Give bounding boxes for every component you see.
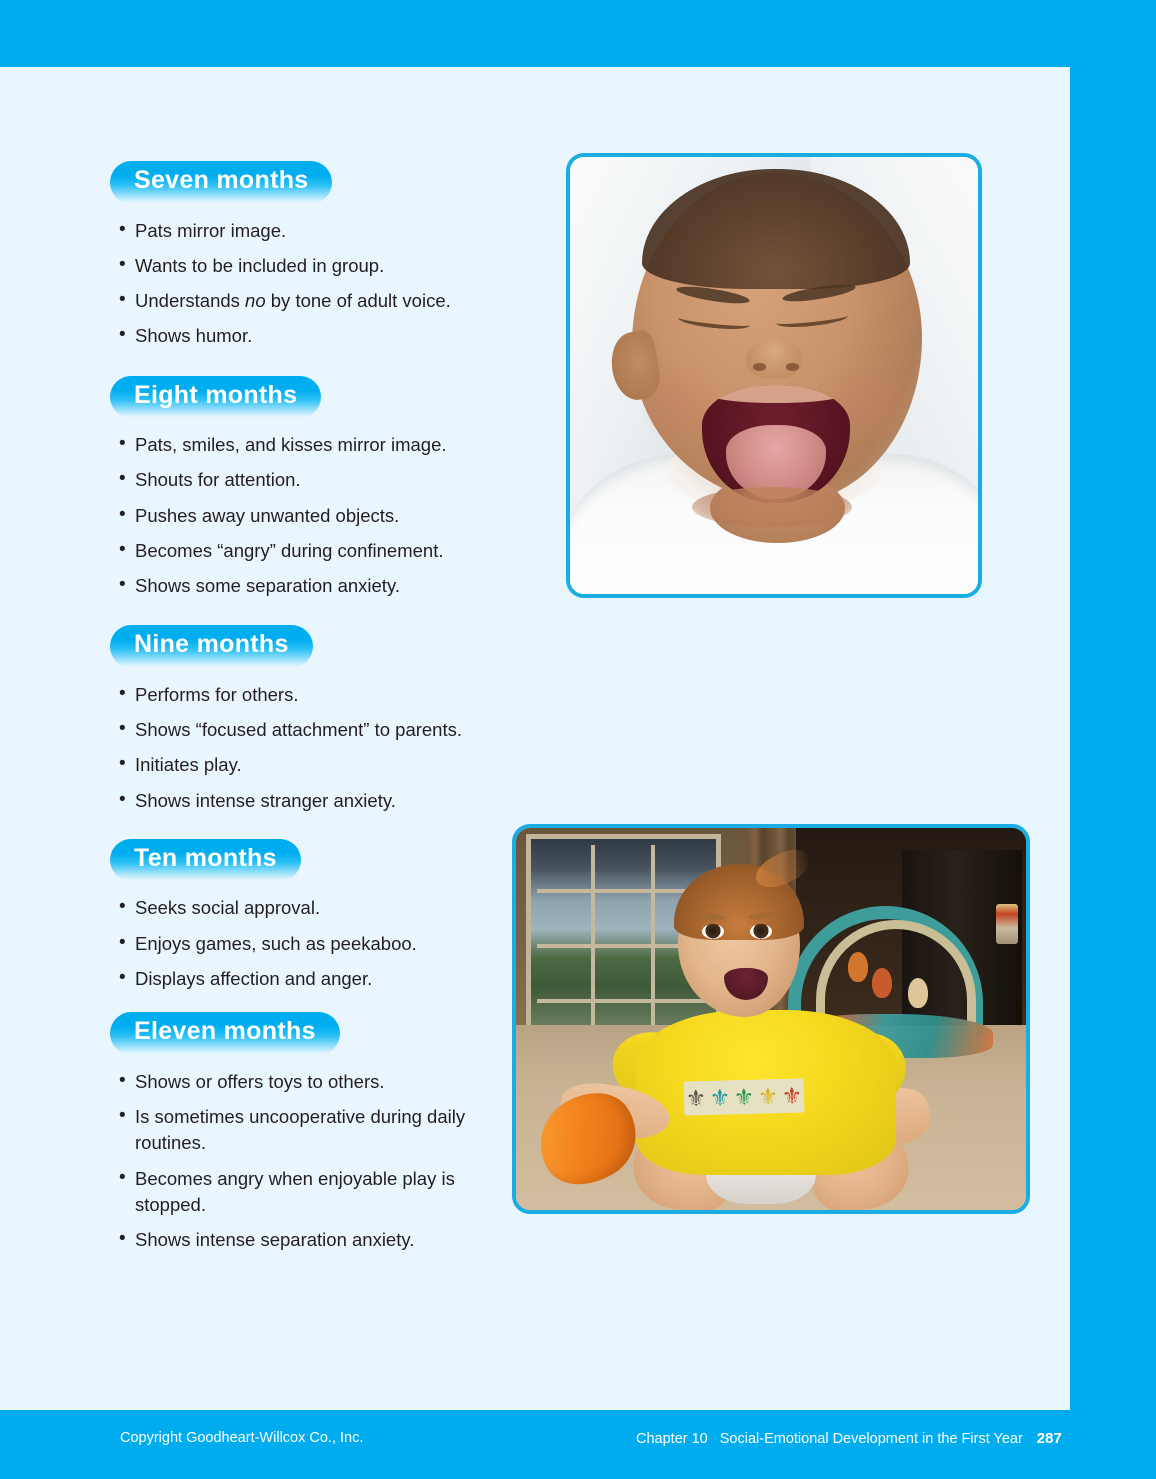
list-seven-months: Pats mirror image. Wants to be included …: [110, 218, 510, 350]
section-ten-months: Ten months Seeks social approval. Enjoys…: [110, 839, 510, 992]
list-item: Becomes angry when enjoyable play is sto…: [110, 1166, 510, 1219]
list-item: Shows intense stranger anxiety.: [110, 788, 510, 814]
top-accent-band: [0, 0, 1156, 67]
sitting-baby-photo: ⚜ ⚜ ⚜ ⚜ ⚜: [512, 824, 1030, 1214]
right-accent-band: [1070, 0, 1156, 1479]
list-eight-months: Pats, smiles, and kisses mirror image. S…: [110, 432, 510, 599]
laughing-baby-photo: [566, 153, 982, 598]
footer-copyright: Copyright Goodheart-Willcox Co., Inc.: [120, 1430, 363, 1446]
list-item: Shows humor.: [110, 323, 510, 349]
list-item: Is sometimes uncooperative during daily …: [110, 1104, 510, 1157]
page-footer: Copyright Goodheart-Willcox Co., Inc. Ch…: [0, 1410, 1156, 1479]
list-nine-months: Performs for others. Shows “focused atta…: [110, 682, 510, 814]
heading-eight-months: Eight months: [110, 376, 321, 419]
footer-page-number: 287: [1037, 1430, 1062, 1447]
list-item: Shows some separation anxiety.: [110, 573, 510, 599]
list-item: Shouts for attention.: [110, 467, 510, 493]
heading-nine-months: Nine months: [110, 625, 313, 668]
footer-chapter-title: Social-Emotional Development in the Firs…: [720, 1431, 1023, 1447]
textbook-page: Seven months Pats mirror image. Wants to…: [0, 0, 1156, 1479]
list-item: Displays affection and anger.: [110, 966, 510, 992]
list-eleven-months: Shows or offers toys to others. Is somet…: [110, 1069, 510, 1254]
list-ten-months: Seeks social approval. Enjoys games, suc…: [110, 895, 510, 992]
footer-chapter-info: Chapter 10Social-Emotional Development i…: [636, 1430, 1062, 1447]
list-item: Enjoys games, such as peekaboo.: [110, 931, 510, 957]
section-eight-months: Eight months Pats, smiles, and kisses mi…: [110, 376, 510, 600]
list-item: Understands no by tone of adult voice.: [110, 288, 510, 314]
list-item: Shows or offers toys to others.: [110, 1069, 510, 1095]
list-item: Pats, smiles, and kisses mirror image.: [110, 432, 510, 458]
emphasis-word: no: [245, 290, 266, 311]
heading-eleven-months: Eleven months: [110, 1012, 340, 1055]
list-item: Becomes “angry” during confinement.: [110, 538, 510, 564]
list-item: Initiates play.: [110, 752, 510, 778]
list-item: Wants to be included in group.: [110, 253, 510, 279]
list-item: Shows intense separation anxiety.: [110, 1227, 510, 1253]
section-nine-months: Nine months Performs for others. Shows “…: [110, 625, 510, 814]
section-eleven-months: Eleven months Shows or offers toys to ot…: [110, 1012, 510, 1253]
list-item: Performs for others.: [110, 682, 510, 708]
list-item: Pats mirror image.: [110, 218, 510, 244]
footer-chapter-number: Chapter 10: [636, 1431, 708, 1447]
development-milestones-column: Seven months Pats mirror image. Wants to…: [110, 161, 510, 1265]
page-content-area: Seven months Pats mirror image. Wants to…: [0, 67, 1070, 1412]
list-item: Pushes away unwanted objects.: [110, 503, 510, 529]
heading-seven-months: Seven months: [110, 161, 332, 204]
section-seven-months: Seven months Pats mirror image. Wants to…: [110, 161, 510, 350]
list-item: Seeks social approval.: [110, 895, 510, 921]
heading-ten-months: Ten months: [110, 839, 301, 882]
list-item: Shows “focused attachment” to parents.: [110, 717, 510, 743]
